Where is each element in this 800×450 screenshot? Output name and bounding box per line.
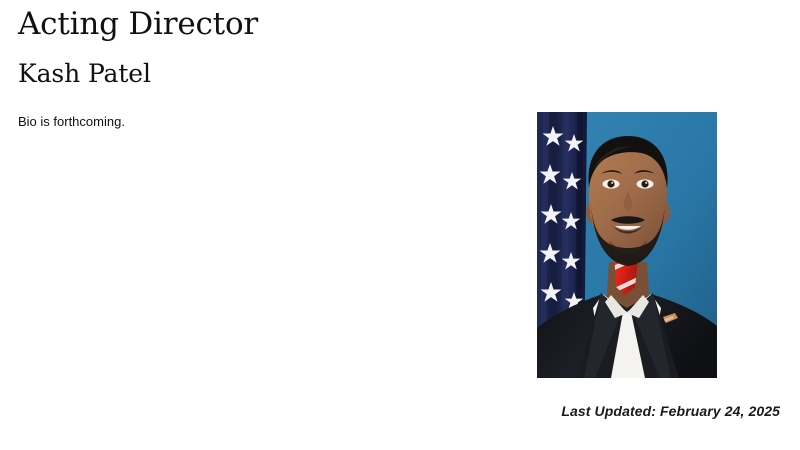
person-name: Kash Patel — [18, 43, 518, 89]
page-title: Acting Director — [18, 0, 518, 43]
last-updated-text: Last Updated: February 24, 2025 — [561, 403, 780, 419]
bio-text: Bio is forthcoming. — [18, 88, 518, 131]
portrait-photo — [537, 112, 717, 378]
profile-page: Acting Director Kash Patel Bio is forthc… — [0, 0, 800, 450]
portrait-illustration — [537, 112, 717, 378]
profile-text-column: Acting Director Kash Patel Bio is forthc… — [18, 0, 518, 132]
